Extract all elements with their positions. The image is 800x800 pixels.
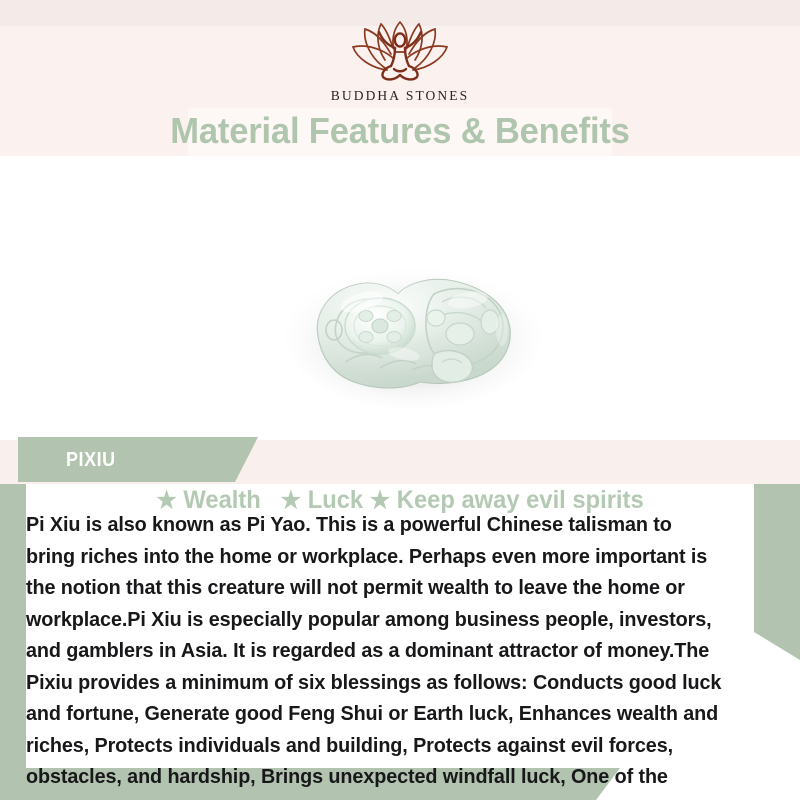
- brand-name: BUDDHA STONES: [0, 88, 800, 104]
- infographic-page: BUDDHA STONES Material Features & Benefi…: [0, 0, 800, 800]
- jade-pixiu-carving: [284, 258, 542, 408]
- pixiu-tag-label: PIXIU: [66, 449, 116, 472]
- lotus-meditation-icon: [0, 18, 800, 86]
- brand-logo: BUDDHA STONES: [0, 18, 800, 104]
- page-title: Material Features & Benefits: [16, 110, 784, 152]
- pixiu-tag-shape: [18, 437, 258, 482]
- description-text: Pi Xiu is also known as Pi Yao. This is …: [26, 510, 722, 800]
